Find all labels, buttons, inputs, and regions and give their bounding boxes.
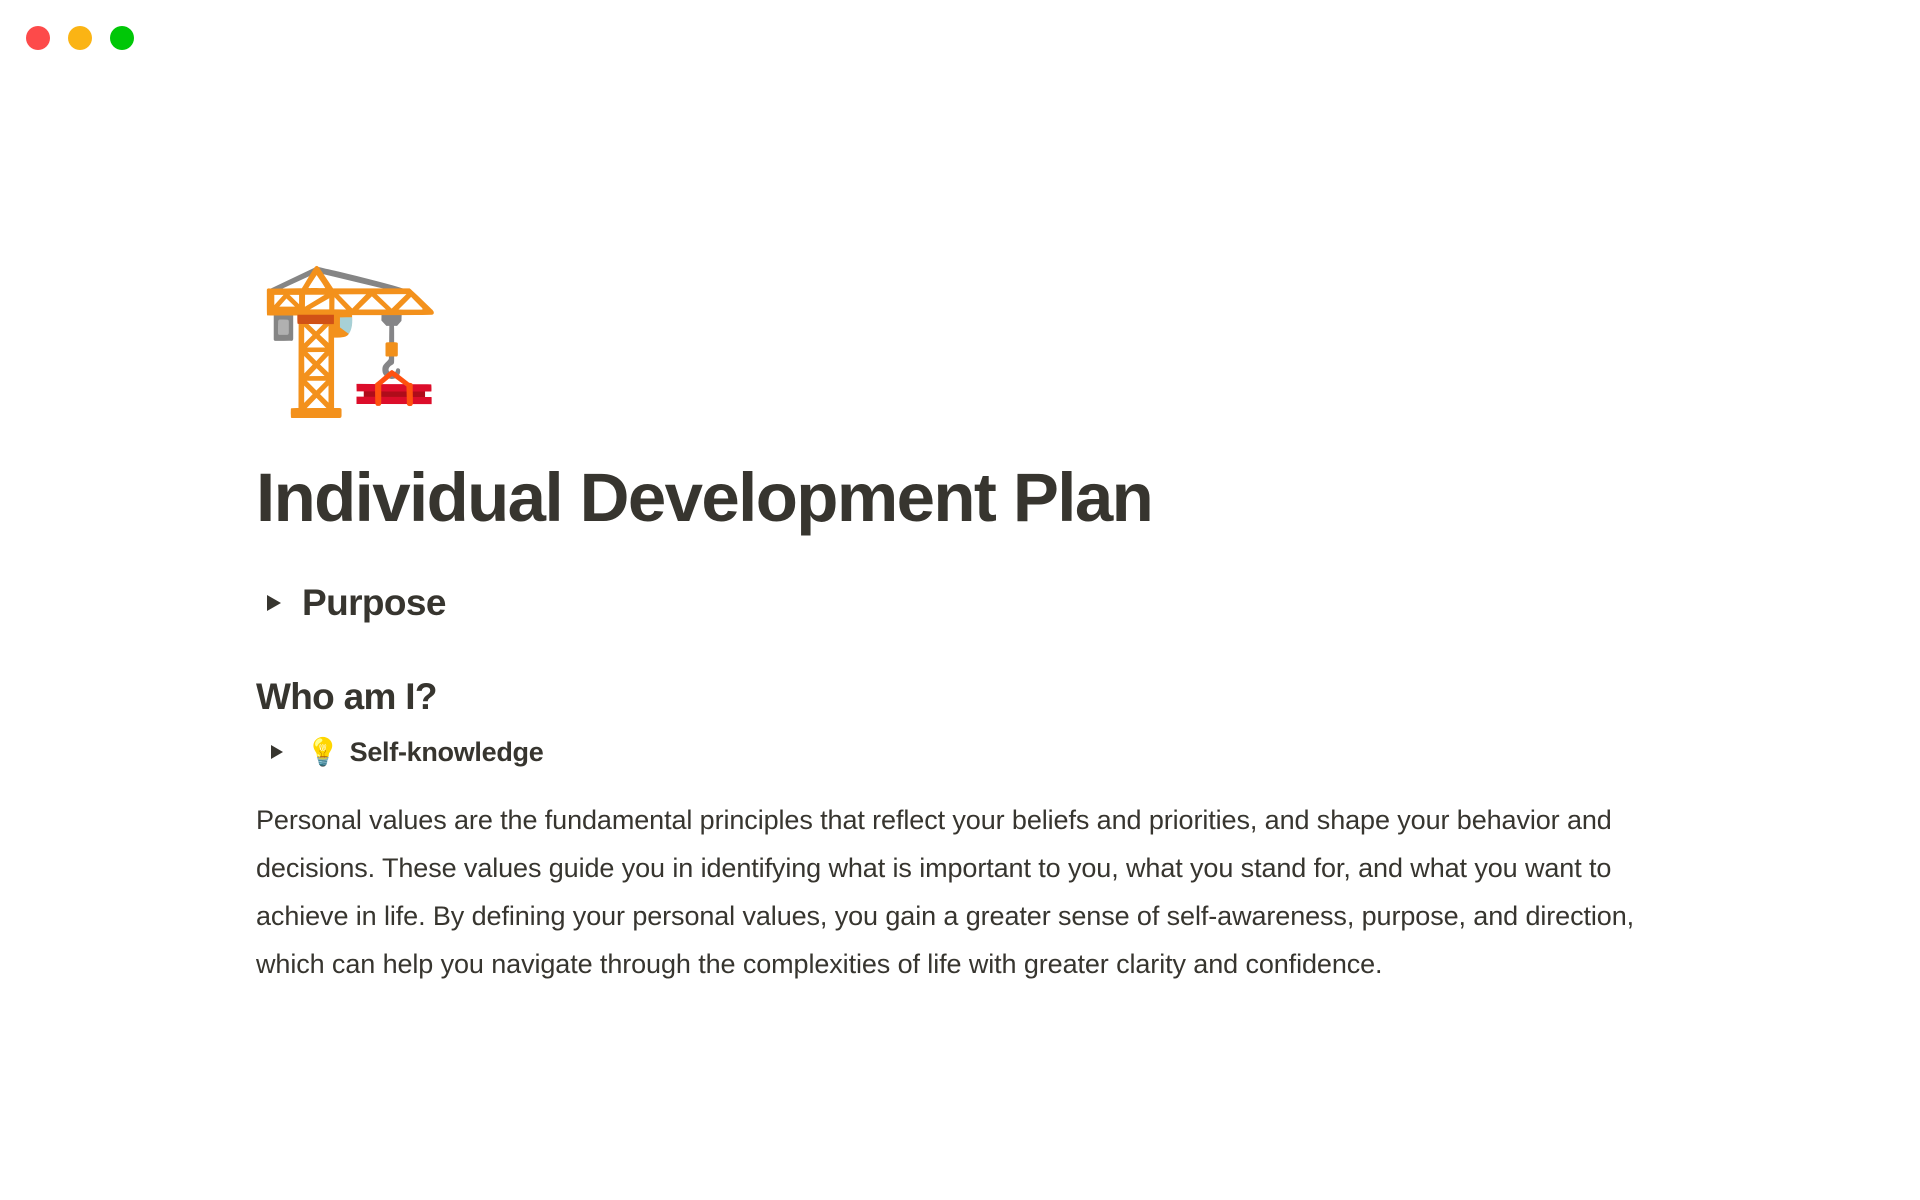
minimize-window-icon[interactable] [68,26,92,50]
toggle-label-purpose[interactable]: Purpose [302,580,446,626]
building-construction-crane-icon[interactable]: 🏗️ [256,255,426,415]
window-controls [26,26,134,50]
toggle-block-purpose[interactable]: Purpose [256,577,1676,629]
close-window-icon[interactable] [26,26,50,50]
window-titlebar [0,0,1920,76]
maximize-window-icon[interactable] [110,26,134,50]
page-title[interactable]: Individual Development Plan [256,457,1676,539]
light-bulb-icon: 💡 [306,737,340,767]
chevron-right-icon[interactable] [256,585,292,621]
chevron-right-icon[interactable] [262,737,292,767]
section-heading-who-am-i[interactable]: Who am I? [256,674,1676,720]
document-page: 🏗️ Individual Development Plan Purpose W… [0,76,1920,1200]
paragraph-personal-values[interactable]: Personal values are the fundamental prin… [256,796,1671,988]
document-content: 🏗️ Individual Development Plan Purpose W… [256,76,1676,988]
toggle-block-self-knowledge[interactable]: 💡 Self-knowledge [262,729,1676,775]
toggle-label-self-knowledge[interactable]: Self-knowledge [350,735,544,769]
app-window: 🏗️ Individual Development Plan Purpose W… [0,0,1920,1200]
